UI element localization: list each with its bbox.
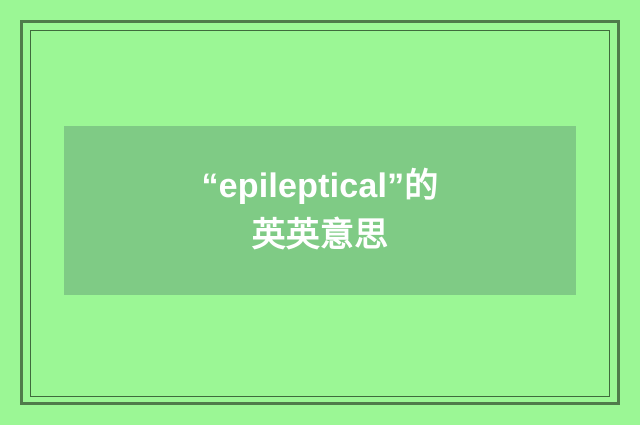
page-canvas: “epileptical”的英英意思 bbox=[0, 0, 640, 425]
page-title: “epileptical”的英英意思 bbox=[190, 162, 450, 259]
title-card-panel: “epileptical”的英英意思 bbox=[64, 126, 576, 295]
